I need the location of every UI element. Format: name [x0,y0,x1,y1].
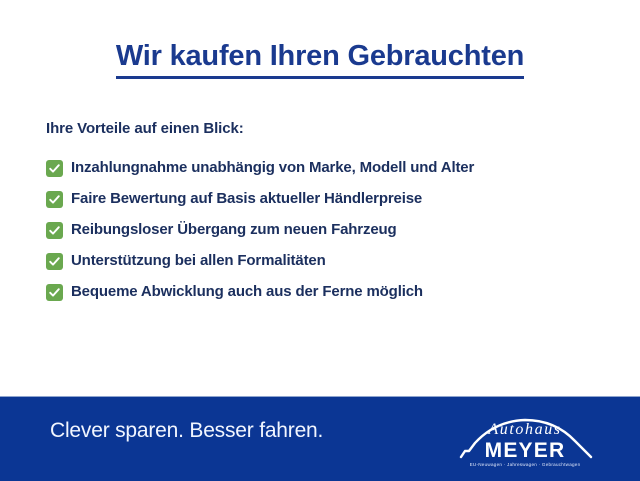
check-square-icon [46,284,63,301]
intro-text: Ihre Vorteile auf einen Blick: [46,120,244,137]
list-item-label: Unterstützung bei allen Formalitäten [71,253,326,270]
benefits-list: Inzahlungnahme unabhängig von Marke, Mod… [46,153,616,308]
check-square-icon [46,191,63,208]
check-square-icon [46,160,63,177]
footer-tagline: Clever sparen. Besser fahren. [50,419,323,443]
slide-root: Wir kaufen Ihren Gebrauchten Ihre Vortei… [0,0,640,480]
list-item-label: Reibungsloser Übergang zum neuen Fahrzeu… [71,222,397,239]
page-title-container: Wir kaufen Ihren Gebrauchten [0,40,640,79]
list-item: Faire Bewertung auf Basis aktueller Händ… [46,184,616,215]
check-square-icon [46,253,63,270]
list-item: Bequeme Abwicklung auch aus der Ferne mö… [46,277,616,308]
list-item-label: Bequeme Abwicklung auch aus der Ferne mö… [71,284,423,301]
list-item: Inzahlungnahme unabhängig von Marke, Mod… [46,153,616,184]
list-item-label: Faire Bewertung auf Basis aktueller Händ… [71,191,422,208]
footer-bar: Clever sparen. Besser fahren. Autohaus M… [0,396,640,481]
page-title: Wir kaufen Ihren Gebrauchten [116,40,524,79]
logo-name: MEYER [485,439,566,462]
list-item-label: Inzahlungnahme unabhängig von Marke, Mod… [71,160,474,177]
list-item: Reibungsloser Übergang zum neuen Fahrzeu… [46,215,616,246]
check-square-icon [46,222,63,239]
dealer-logo: Autohaus MEYER EU-Neuwagen · Jahreswagen… [455,407,595,471]
logo-subtitle: EU-Neuwagen · Jahreswagen · Gebrauchtwag… [470,462,581,467]
logo-script-word: Autohaus [487,421,561,438]
list-item: Unterstützung bei allen Formalitäten [46,246,616,277]
